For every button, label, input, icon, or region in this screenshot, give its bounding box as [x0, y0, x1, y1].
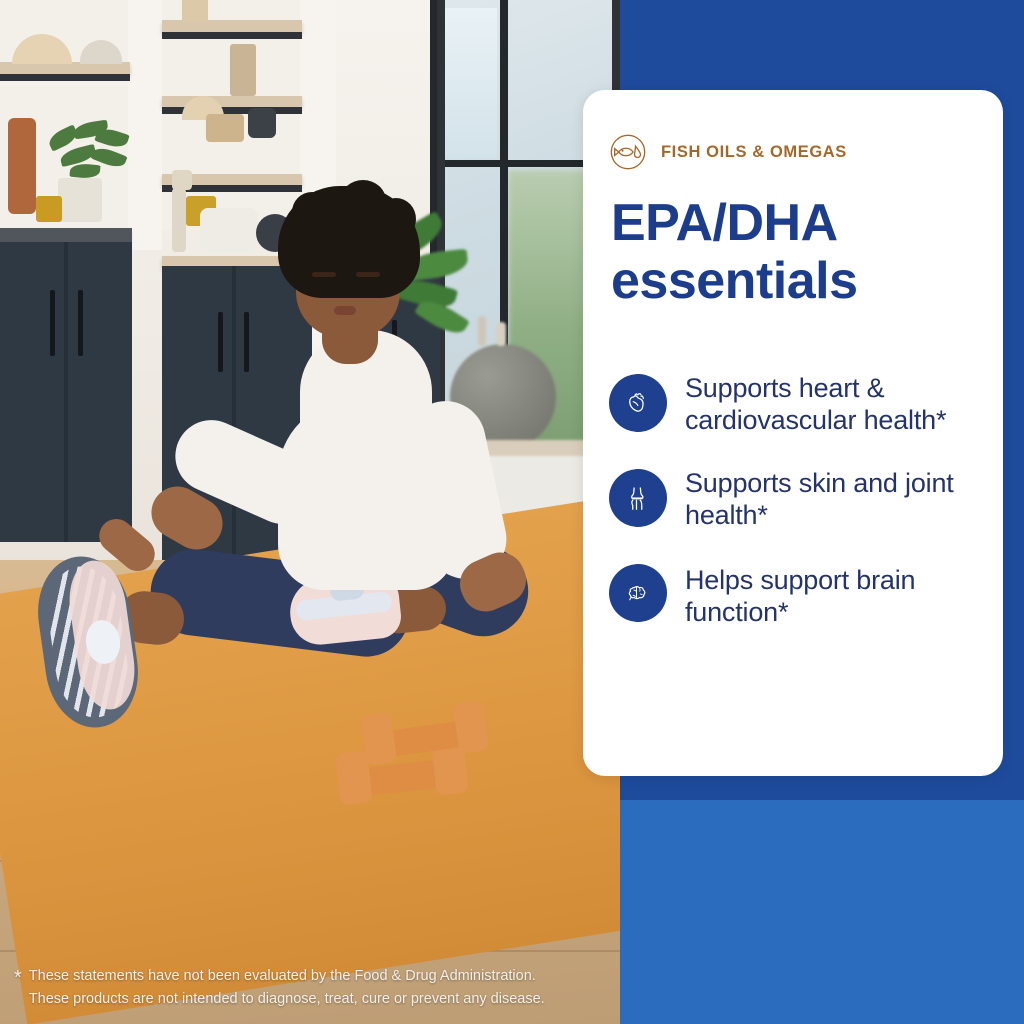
benefit-text: Supports skin and joint health*	[685, 465, 981, 532]
disclaimer-line-1: These statements have not been evaluated…	[29, 965, 545, 987]
benefit-item-brain: Helps support brain function*	[609, 560, 981, 629]
brain-icon	[609, 564, 667, 622]
fish-oil-circle-icon	[608, 132, 648, 172]
benefits-card: FISH OILS & OMEGAS EPA/DHA essentials	[583, 90, 1003, 776]
category-label: FISH OILS & OMEGAS	[661, 143, 847, 162]
benefit-text: Helps support brain function*	[685, 560, 981, 629]
benefits-list: Supports heart & cardiovascular health* …	[609, 370, 981, 656]
page-title: EPA/DHA essentials	[611, 194, 991, 310]
headline-line-2: essentials	[611, 252, 991, 310]
lifestyle-photo	[0, 0, 620, 1024]
headline-line-1: EPA/DHA	[611, 194, 838, 252]
disclaimer: * These statements have not been evaluat…	[14, 965, 614, 1010]
knee-joint-icon	[609, 469, 667, 527]
anatomical-heart-icon	[609, 374, 667, 432]
benefit-item-joint: Supports skin and joint health*	[609, 465, 981, 532]
benefit-item-heart: Supports heart & cardiovascular health*	[609, 370, 981, 437]
disclaimer-line-2: These products are not intended to diagn…	[29, 988, 545, 1010]
category-row: FISH OILS & OMEGAS	[608, 132, 847, 172]
marketing-image: FISH OILS & OMEGAS EPA/DHA essentials	[0, 0, 1024, 1024]
benefit-text: Supports heart & cardiovascular health*	[685, 370, 981, 437]
disclaimer-asterisk: *	[14, 968, 22, 988]
